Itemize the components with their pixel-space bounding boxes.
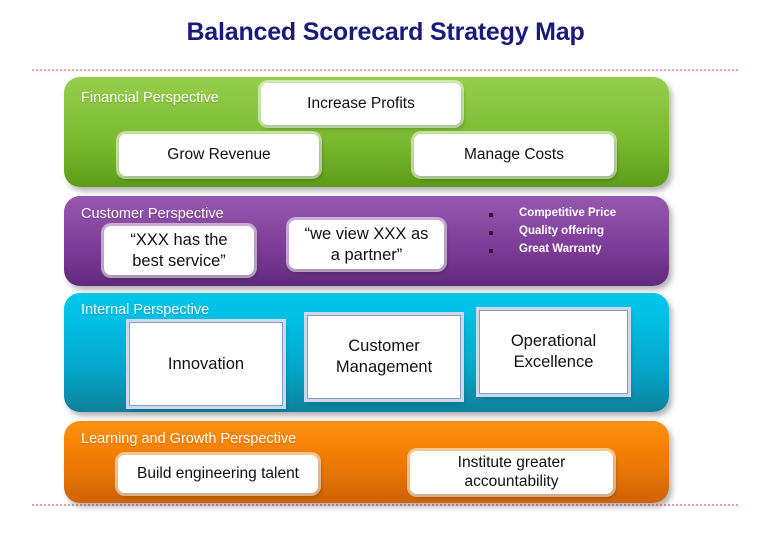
bullet-dot-icon [489, 213, 493, 217]
objective-line-1: Innovation [168, 354, 244, 375]
objective-increase-profits[interactable]: Increase Profits [261, 83, 461, 125]
band-label-customer: Customer Perspective [81, 206, 224, 222]
objective-line-2: Management [336, 357, 432, 378]
divider-bottom [32, 504, 738, 506]
list-item: Quality offering [489, 224, 659, 239]
objective-institute-greater-accountability[interactable]: Institute greater accountability [410, 451, 613, 494]
objective-build-engineering-talent[interactable]: Build engineering talent [118, 455, 318, 493]
objective-innovation[interactable]: Innovation [129, 322, 283, 406]
list-item: Competitive Price [489, 206, 659, 221]
band-customer-perspective: Customer Perspective “XXX has the best s… [64, 196, 669, 286]
band-financial-perspective: Financial Perspective Increase Profits G… [64, 77, 669, 187]
objective-line-2: Excellence [514, 352, 594, 373]
objective-customer-quote-service[interactable]: “XXX has the best service” [104, 226, 254, 275]
bullet-dot-icon [489, 249, 493, 253]
objective-line-2: best service” [132, 251, 226, 271]
divider-top [32, 69, 738, 71]
list-item: Great Warranty [489, 242, 659, 257]
objective-line-1: “XXX has the [130, 230, 227, 250]
objective-grow-revenue[interactable]: Grow Revenue [119, 134, 319, 176]
band-label-learning-growth: Learning and Growth Perspective [81, 431, 296, 447]
objective-line-1: “we view XXX as [305, 224, 429, 244]
bullet-dot-icon [489, 231, 493, 235]
objective-customer-quote-partner[interactable]: “we view XXX as a partner” [289, 220, 444, 269]
bullet-label: Quality offering [519, 224, 604, 239]
page-title: Balanced Scorecard Strategy Map [0, 18, 771, 47]
bullet-label: Great Warranty [519, 242, 602, 257]
band-label-internal: Internal Perspective [81, 302, 209, 318]
band-label-financial: Financial Perspective [81, 90, 219, 106]
objective-line-1: Customer [348, 336, 420, 357]
objective-line-1: Institute greater [458, 454, 566, 473]
objective-operational-excellence[interactable]: Operational Excellence [479, 310, 628, 394]
objective-manage-costs[interactable]: Manage Costs [414, 134, 614, 176]
objective-line-2: accountability [465, 473, 559, 492]
objective-line-2: a partner” [331, 245, 403, 265]
objective-line-1: Build engineering talent [137, 465, 299, 484]
objective-customer-management[interactable]: Customer Management [307, 315, 461, 399]
band-learning-growth-perspective: Learning and Growth Perspective Build en… [64, 421, 669, 503]
band-internal-perspective: Internal Perspective Innovation Customer… [64, 293, 669, 412]
customer-value-proposition-list: Competitive Price Quality offering Great… [489, 206, 659, 260]
objective-line-1: Operational [511, 331, 596, 352]
bullet-label: Competitive Price [519, 206, 616, 221]
